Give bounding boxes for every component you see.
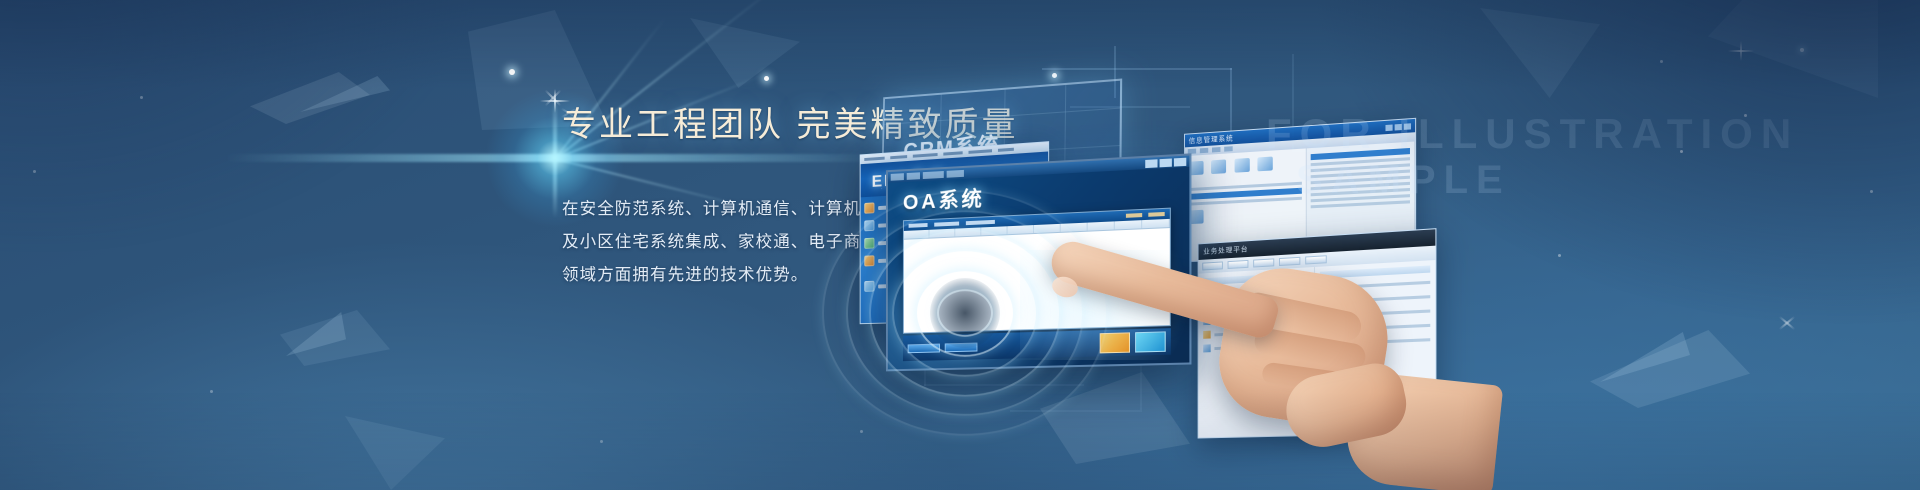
column-header[interactable] [904,230,930,239]
close-icon[interactable] [1404,123,1411,130]
polygon-shape [690,18,800,88]
menu-item[interactable] [1126,213,1142,218]
text-line [1331,295,1430,303]
tab-item[interactable] [1160,158,1172,167]
polygon-shape [250,72,370,124]
archive-icon [864,255,874,266]
table-header [1319,265,1430,278]
promo-hero-banner: 专业工程团队 完美精致质量 在安全防范系统、计算机通信、计算机网络、智能大厦 及… [0,0,1920,490]
tab-item[interactable] [1174,157,1186,166]
menu-item[interactable] [968,149,992,154]
column-header[interactable] [1115,220,1142,229]
winB-column-right[interactable] [1314,260,1436,435]
menu-item[interactable] [943,151,962,155]
particle-dot [33,170,36,173]
oa-app-window[interactable] [903,208,1171,334]
polygon-shape [280,310,390,366]
menu-item[interactable] [966,220,995,225]
text-line [1214,315,1308,322]
sparkle-star [554,100,555,101]
oa-table-body[interactable] [904,228,1170,333]
circuit-line [1042,68,1232,70]
screen-window-b[interactable]: 业务处理平台 [1198,228,1437,438]
text-line [1214,329,1308,336]
text-line [1214,343,1308,350]
particle-dot [1660,60,1663,63]
menu-item[interactable] [998,148,1014,152]
status-icon [1203,344,1210,352]
status-icon [1203,290,1210,298]
tab-item[interactable] [1145,159,1157,168]
dashboard-icon [864,202,874,213]
grid-line [884,108,1119,125]
text-line [1331,309,1430,317]
column-header[interactable] [981,226,1007,235]
column-header[interactable] [1008,225,1034,234]
polygon-shape [300,76,390,112]
column-header[interactable] [1034,224,1061,233]
spacer [982,343,1094,346]
folder-icon[interactable] [1234,158,1249,173]
topbar-item[interactable] [907,172,920,180]
winB-column-left[interactable] [1199,267,1314,437]
polygon-shape [286,312,346,356]
polygon-shape [1600,332,1690,382]
circuit-line [1230,68,1232,136]
toolbar-icon[interactable] [1224,146,1232,151]
sparkle-star [1786,322,1787,323]
screen-oa-title: OA系统 [903,183,985,217]
column-header[interactable] [955,227,981,236]
oa-tab-group[interactable] [1145,157,1186,167]
menu-item[interactable] [934,222,959,227]
flare-vertical-beam [553,98,557,218]
text-line [1214,301,1308,309]
table-row[interactable] [1203,326,1308,339]
table-header [1203,272,1308,285]
toolbar-icon[interactable] [1212,147,1220,152]
winB-content [1199,260,1436,438]
particle-dot [1680,150,1683,153]
sparkle-star [552,97,553,98]
text-line [1214,287,1308,295]
column-header[interactable] [1061,223,1088,232]
column-header[interactable] [1088,221,1115,230]
report-icon [864,238,874,249]
software-screens-collage: CRM系统 · · · · · · · · 信息管理系统 [860,40,1560,460]
menu-item[interactable] [909,223,928,228]
particle-dot [1800,48,1804,52]
table-row[interactable] [1319,321,1430,334]
action-button[interactable] [945,342,978,352]
status-icon [1319,297,1327,305]
winB-title: 业务处理平台 [1203,244,1248,257]
particle-dot [764,76,769,81]
ribbon-button[interactable] [1279,257,1300,266]
settings-icon [864,281,874,292]
particle-dot [210,390,213,393]
text-line [1331,338,1430,345]
status-icon [1203,317,1210,325]
status-icon [1203,303,1210,311]
folder-icon[interactable] [1258,156,1273,171]
particle-dot [1870,190,1873,193]
folder-icon[interactable] [1211,159,1226,174]
table-row[interactable] [1319,335,1430,348]
column-header[interactable] [929,229,955,238]
menu-item[interactable] [913,153,938,158]
ribbon-button[interactable] [1202,261,1223,270]
table-row[interactable] [1319,278,1430,292]
polygon-shape [1708,0,1878,140]
minimize-icon[interactable] [1385,124,1392,131]
table-row[interactable] [1319,292,1430,306]
table-row[interactable] [1203,312,1308,325]
table-row[interactable] [1203,284,1308,297]
status-icon [1319,339,1327,347]
screen-oa[interactable]: OA系统 [886,153,1191,371]
polygon-shape [345,416,445,490]
text-line [1331,280,1430,288]
ribbon-button[interactable] [1253,258,1274,267]
particle-dot [1744,114,1747,117]
highlight-button-cyan[interactable] [1135,331,1166,352]
winA-window-controls[interactable] [1385,123,1411,131]
topbar-item[interactable] [947,170,964,178]
polygon-shape [1590,330,1750,408]
sparkle-star [1740,50,1741,51]
ribbon-button[interactable] [1305,255,1327,264]
text-line [1331,323,1430,330]
circuit-line [1010,410,1140,412]
particle-dot [600,440,603,443]
action-button[interactable] [908,343,940,353]
highlight-button-orange[interactable] [1100,332,1130,353]
table-row[interactable] [1203,340,1308,352]
circuit-line [924,384,1084,386]
menu-item[interactable] [890,155,907,159]
maximize-icon[interactable] [1395,123,1402,130]
status-icon [1319,283,1327,291]
topbar-item[interactable] [891,173,904,181]
ribbon-button[interactable] [1228,260,1249,269]
table-row[interactable] [1203,298,1308,311]
menu-item[interactable] [864,157,884,161]
toolbar-icon[interactable] [1200,148,1208,153]
status-icon [1319,325,1327,333]
status-icon [1319,311,1327,319]
oa-menu-right-group[interactable] [1126,212,1165,218]
particle-dot [509,69,515,75]
status-icon [1203,331,1210,339]
column-header[interactable] [1142,219,1170,228]
table-row[interactable] [1319,306,1430,319]
database-icon [864,220,874,231]
menu-item[interactable] [1148,212,1164,217]
particle-dot [140,96,143,99]
topbar-item[interactable] [923,171,944,179]
